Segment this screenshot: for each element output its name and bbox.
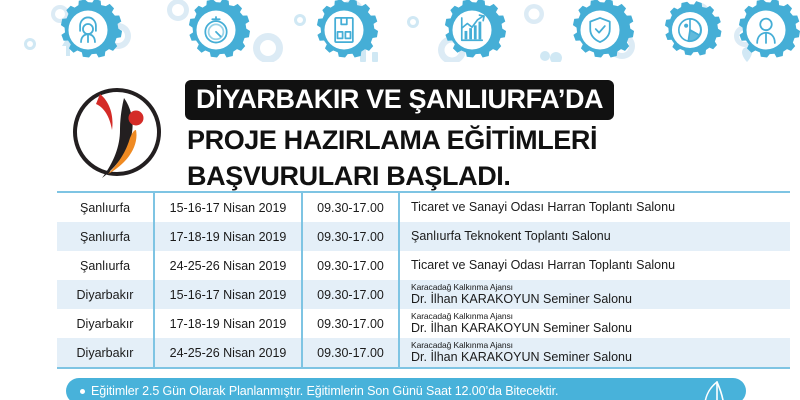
- pie-chart-icon: [665, 1, 722, 55]
- headline-line-3: BAŞVURULARI BAŞLADI.: [185, 163, 785, 190]
- cell-city: Şanlıurfa: [57, 222, 155, 251]
- cell-time: 09.30-17.00: [303, 222, 400, 251]
- table-row: Diyarbakır24-25-26 Nisan 201909.30-17.00…: [57, 338, 790, 367]
- cell-venue: Karacadağ Kalkınma AjansıDr. İlhan KARAK…: [400, 338, 790, 367]
- cell-dates: 15-16-17 Nisan 2019: [155, 280, 303, 309]
- cell-dates: 24-25-26 Nisan 2019: [155, 251, 303, 280]
- headline-line-2: PROJE HAZIRLAMA EĞİTİMLERİ: [185, 127, 785, 154]
- venue-stack: Karacadağ Kalkınma AjansıDr. İlhan KARAK…: [411, 283, 632, 307]
- cell-city: Diyarbakır: [57, 338, 155, 367]
- circular-emblem-icon: [697, 377, 737, 400]
- cell-venue: Ticaret ve Sanayi Odası Harran Toplantı …: [400, 193, 790, 222]
- venue-hall: Dr. İlhan KARAKOYUN Seminer Salonu: [411, 351, 632, 365]
- cell-time: 09.30-17.00: [303, 193, 400, 222]
- cell-city: Şanlıurfa: [57, 251, 155, 280]
- stopwatch-icon: [189, 0, 250, 58]
- cell-venue: Karacadağ Kalkınma AjansıDr. İlhan KARAK…: [400, 280, 790, 309]
- cell-dates: 17-18-19 Nisan 2019: [155, 222, 303, 251]
- venue-hall: Ticaret ve Sanayi Odası Harran Toplantı …: [411, 201, 675, 215]
- cell-venue: Şanlıurfa Teknokent Toplantı Salonu: [400, 222, 790, 251]
- cell-city: Diyarbakır: [57, 280, 155, 309]
- cell-venue: Ticaret ve Sanayi Odası Harran Toplantı …: [400, 251, 790, 280]
- venue-stack: Karacadağ Kalkınma AjansıDr. İlhan KARAK…: [411, 341, 632, 365]
- gear-icon-banner: [0, 0, 800, 62]
- cell-dates: 15-16-17 Nisan 2019: [155, 193, 303, 222]
- cell-city: Şanlıurfa: [57, 193, 155, 222]
- bar-chart-growth-icon: [445, 0, 506, 58]
- cell-dates: 24-25-26 Nisan 2019: [155, 338, 303, 367]
- venue-stack: Karacadağ Kalkınma AjansıDr. İlhan KARAK…: [411, 312, 632, 336]
- cell-time: 09.30-17.00: [303, 338, 400, 367]
- table-row: Diyarbakır15-16-17 Nisan 201909.30-17.00…: [57, 280, 790, 309]
- venue-hall: Şanlıurfa Teknokent Toplantı Salonu: [411, 230, 611, 244]
- bullet-icon: [80, 389, 85, 394]
- cell-venue: Karacadağ Kalkınma AjansıDr. İlhan KARAK…: [400, 309, 790, 338]
- table-row: Diyarbakır17-18-19 Nisan 201909.30-17.00…: [57, 309, 790, 338]
- poster-root: DİYARBAKIR VE ŞANLIURFA’DA PROJE HAZIRLA…: [0, 0, 800, 400]
- table-row: Şanlıurfa15-16-17 Nisan 201909.30-17.00T…: [57, 193, 790, 222]
- headset-agent-icon: [61, 0, 122, 58]
- headline-line-1: DİYARBAKIR VE ŞANLIURFA’DA: [185, 80, 614, 120]
- shield-check-icon: [573, 0, 634, 58]
- user-person-icon: [739, 0, 800, 58]
- table-row: Şanlıurfa17-18-19 Nisan 201909.30-17.00Ş…: [57, 222, 790, 251]
- package-box-icon: [317, 0, 378, 58]
- venue-hall: Dr. İlhan KARAKOYUN Seminer Salonu: [411, 322, 632, 336]
- emblem-mark: [697, 377, 737, 400]
- headline-block: DİYARBAKIR VE ŞANLIURFA’DA PROJE HAZIRLA…: [185, 80, 785, 190]
- cell-time: 09.30-17.00: [303, 280, 400, 309]
- table-row: Şanlıurfa24-25-26 Nisan 201909.30-17.00T…: [57, 251, 790, 280]
- venue-hall: Ticaret ve Sanayi Odası Harran Toplantı …: [411, 259, 675, 273]
- cell-dates: 17-18-19 Nisan 2019: [155, 309, 303, 338]
- footer-note-text: Eğitimler 2.5 Gün Olarak Planlanmıştır. …: [91, 384, 558, 398]
- logo-mark: [62, 78, 172, 186]
- cell-time: 09.30-17.00: [303, 309, 400, 338]
- gear-banner-icon-row: [0, 0, 800, 62]
- karacadag-kalkinma-ajansi-logo: [62, 78, 172, 186]
- footer-note-bar: Eğitimler 2.5 Gün Olarak Planlanmıştır. …: [66, 378, 746, 400]
- venue-hall: Dr. İlhan KARAKOYUN Seminer Salonu: [411, 293, 632, 307]
- cell-city: Diyarbakır: [57, 309, 155, 338]
- cell-time: 09.30-17.00: [303, 251, 400, 280]
- schedule-table: Şanlıurfa15-16-17 Nisan 201909.30-17.00T…: [57, 191, 790, 369]
